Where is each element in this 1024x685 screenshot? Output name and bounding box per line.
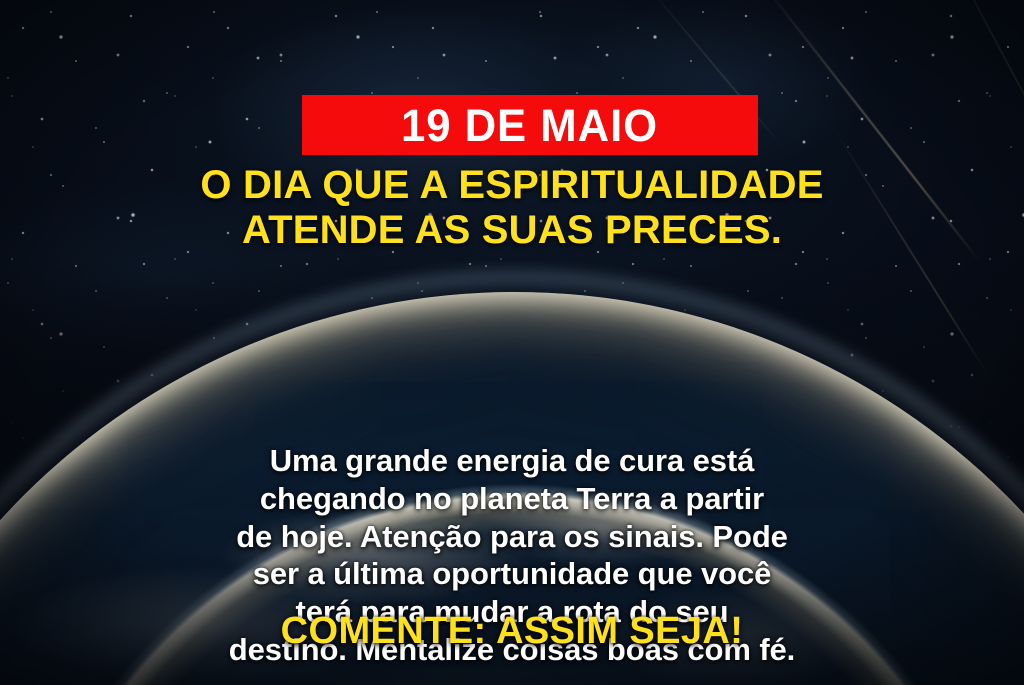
poster-content: 19 DE MAIO O DIA QUE A ESPIRITUALIDADE A…	[0, 0, 1024, 685]
call-to-action-text: COMENTE: ASSIM SEJA!	[0, 612, 1024, 650]
body-line-2: chegando no planeta Terra a partir	[50, 480, 974, 518]
date-banner-text: 19 DE MAIO	[401, 103, 658, 148]
headline-line-2: ATENDE AS SUAS PRECES.	[0, 208, 1024, 253]
date-banner: 19 DE MAIO	[302, 95, 758, 155]
headline-line-1: O DIA QUE A ESPIRITUALIDADE	[0, 163, 1024, 208]
body-line-3: de hoje. Atenção para os sinais. Pode	[50, 518, 974, 556]
headline: O DIA QUE A ESPIRITUALIDADE ATENDE AS SU…	[0, 163, 1024, 253]
body-line-4: ser a última oportunidade que você	[50, 555, 974, 593]
poster-canvas: 19 DE MAIO O DIA QUE A ESPIRITUALIDADE A…	[0, 0, 1024, 685]
body-line-1: Uma grande energia de cura está	[50, 442, 974, 480]
